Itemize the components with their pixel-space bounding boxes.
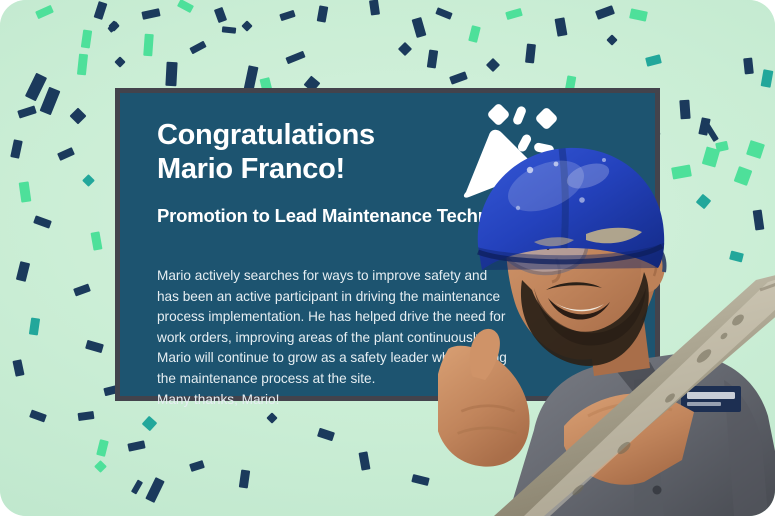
confetti-piece <box>645 54 662 66</box>
confetti-piece <box>525 44 536 64</box>
confetti-piece <box>142 416 158 432</box>
confetti-piece <box>317 428 335 442</box>
confetti-piece <box>743 58 754 75</box>
confetti-piece <box>468 25 481 43</box>
confetti-piece <box>85 340 104 353</box>
thumbs-up-hand <box>438 329 530 467</box>
confetti-piece <box>131 479 143 494</box>
confetti-piece <box>94 460 107 473</box>
confetti-piece <box>17 105 37 118</box>
confetti-piece <box>427 49 438 68</box>
confetti-piece <box>91 231 103 250</box>
confetti-piece <box>279 10 295 21</box>
confetti-piece <box>143 34 154 57</box>
confetti-piece <box>177 0 194 13</box>
confetti-piece <box>398 42 412 56</box>
confetti-piece <box>81 29 92 48</box>
confetti-piece <box>141 8 160 20</box>
confetti-piece <box>679 100 690 120</box>
confetti-piece <box>77 54 88 76</box>
confetti-piece <box>369 0 380 16</box>
confetti-piece <box>35 5 54 19</box>
confetti-piece <box>29 410 47 423</box>
confetti-piece <box>285 51 305 65</box>
confetti-piece <box>40 87 61 116</box>
confetti-piece <box>435 7 452 19</box>
confetti-piece <box>317 5 329 22</box>
confetti-piece <box>266 412 277 423</box>
confetti-piece <box>505 8 523 20</box>
confetti-piece <box>189 41 206 55</box>
confetti-piece <box>359 451 371 470</box>
confetti-piece <box>411 474 429 486</box>
confetti-piece <box>629 8 648 21</box>
confetti-piece <box>70 108 87 125</box>
confetti-piece <box>145 477 165 503</box>
confetti-piece <box>94 1 108 20</box>
confetti-piece <box>189 460 205 472</box>
confetti-piece <box>165 62 177 87</box>
confetti-piece <box>10 139 23 158</box>
confetti-piece <box>16 261 30 282</box>
confetti-piece <box>761 69 774 87</box>
confetti-piece <box>412 17 427 38</box>
confetti-piece <box>114 56 125 67</box>
confetti-piece <box>12 359 24 377</box>
confetti-piece <box>29 317 40 335</box>
confetti-piece <box>78 411 95 421</box>
confetti-piece <box>33 215 52 228</box>
confetti-piece <box>606 34 617 45</box>
confetti-piece <box>486 58 500 72</box>
confetti-piece <box>73 284 91 297</box>
confetti-piece <box>57 147 75 161</box>
confetti-piece <box>96 439 109 457</box>
confetti-piece <box>222 26 237 33</box>
confetti-piece <box>239 469 250 488</box>
confetti-piece <box>241 20 252 31</box>
recognition-card-screen: Congratulations Mario Franco! Promotion … <box>0 0 775 516</box>
confetti-piece <box>449 71 468 84</box>
employee-photo <box>438 130 775 516</box>
confetti-piece <box>595 5 615 20</box>
confetti-piece <box>82 174 95 187</box>
hard-hat <box>472 148 668 282</box>
confetti-piece <box>555 17 568 36</box>
confetti-piece <box>214 7 227 23</box>
confetti-piece <box>19 181 32 202</box>
confetti-piece <box>127 440 145 451</box>
